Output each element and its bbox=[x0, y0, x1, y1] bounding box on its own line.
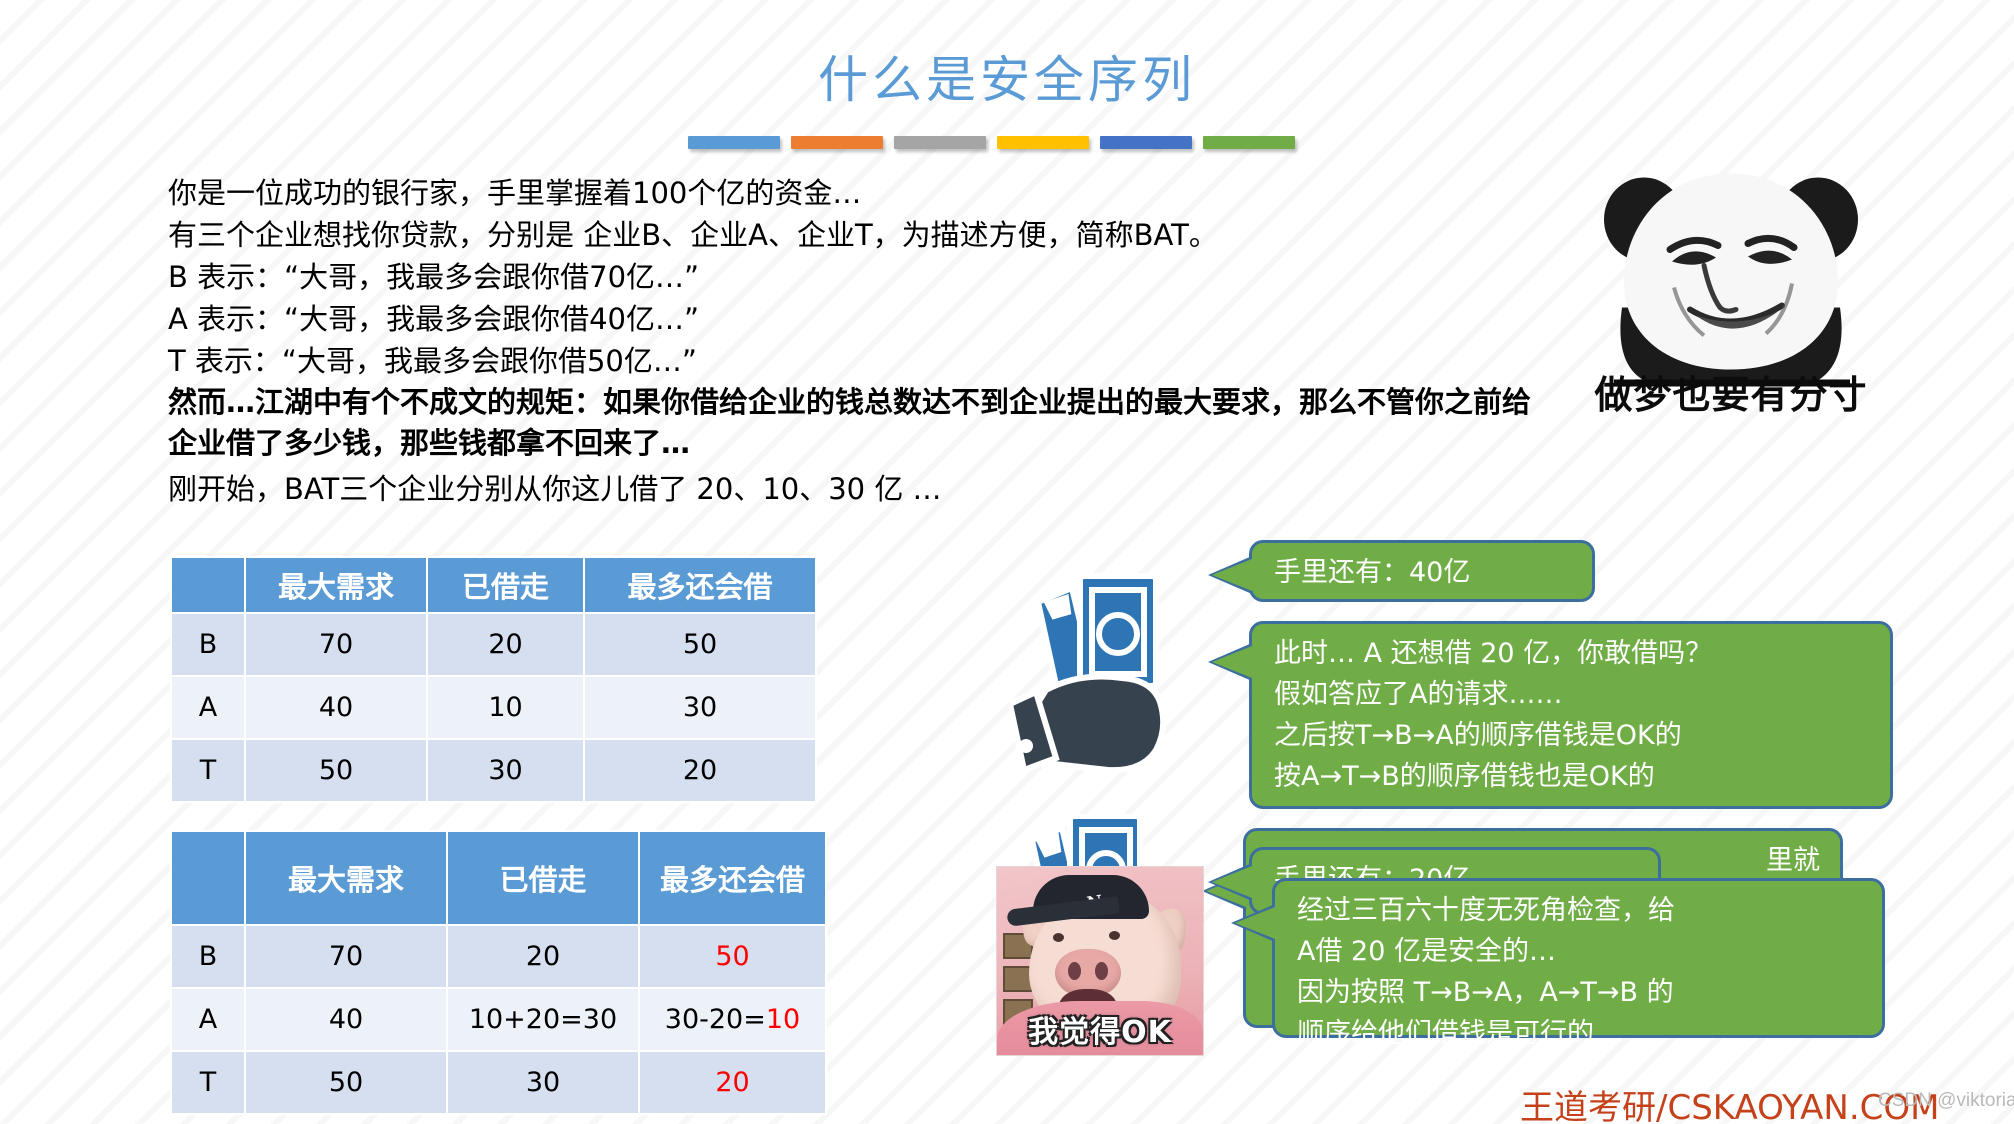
body-line-5: T 表示：“大哥，我最多会跟你借50亿…” bbox=[168, 340, 1558, 382]
pig-baseball-cap: N bbox=[1033, 875, 1149, 919]
body-line-3: B 表示：“大哥，我最多会跟你借70亿…” bbox=[168, 256, 1558, 298]
title-bar-1 bbox=[688, 136, 780, 149]
bubble1-text: 手里还有：40亿 bbox=[1274, 552, 1572, 593]
table2-r1-remain-prefix: 30-20= bbox=[665, 1004, 766, 1035]
title-underline-bars bbox=[688, 136, 1295, 149]
table1-header-already-borrowed: 已借走 bbox=[427, 557, 584, 613]
table1-header-remaining-need: 最多还会借 bbox=[584, 557, 816, 613]
table2-header-already-borrowed: 已借走 bbox=[447, 831, 639, 925]
bubble-tail-2 bbox=[1212, 646, 1252, 678]
callout-bubble-request: 此时… A 还想借 20 亿，你敢借吗？ 假如答应了A的请求…… 之后按T→B→… bbox=[1249, 621, 1893, 809]
table-row: B 70 20 50 bbox=[171, 925, 826, 988]
callout-bubble-cash-40: 手里还有：40亿 bbox=[1249, 540, 1595, 602]
table-row: T 50 30 20 bbox=[171, 739, 816, 802]
table2-r1-max: 40 bbox=[245, 988, 447, 1051]
site-watermark: 王道考研/CSKAOYAN.COM bbox=[1520, 1080, 1940, 1124]
body-line-6: 然而…江湖中有个不成文的规矩：如果你借给企业的钱总数达不到企业提出的最大要求，那… bbox=[168, 382, 1558, 464]
panda-caption: 做梦也要有分寸 bbox=[1586, 364, 1876, 419]
bubble5-line-3: 因为按照 T→B→A，A→T→B 的 bbox=[1297, 972, 1862, 1013]
table1-r2-remain: 20 bbox=[584, 739, 816, 802]
table1-r0-remain: 50 bbox=[584, 613, 816, 676]
table1-r2-max: 50 bbox=[245, 739, 427, 802]
title-bar-3 bbox=[894, 136, 986, 149]
bubble-tail-5 bbox=[1235, 907, 1275, 939]
table2-r2-name: T bbox=[171, 1051, 245, 1114]
table2-r2-remain: 20 bbox=[639, 1051, 826, 1114]
table2-r1-name: A bbox=[171, 988, 245, 1051]
table1-header-0 bbox=[171, 557, 245, 613]
body-line-2: 有三个企业想找你贷款，分别是 企业B、企业A、企业T，为描述方便，简称BAT。 bbox=[168, 214, 1558, 256]
slide-canvas: 什么是安全序列 你是一位成功的银行家，手里掌握着100个亿的资金… 有三个企业想… bbox=[0, 0, 2014, 1124]
allocation-table-initial: 最大需求 已借走 最多还会借 B 70 20 50 A 40 10 30 T 5… bbox=[170, 556, 817, 803]
table1-r1-taken: 10 bbox=[427, 676, 584, 739]
table1-r1-remain: 30 bbox=[584, 676, 816, 739]
bubble2-line-4: 按A→T→B的顺序借钱也是OK的 bbox=[1274, 756, 1870, 797]
table2-r2-remain-value: 20 bbox=[715, 1067, 749, 1098]
bubble2-line-1: 此时… A 还想借 20 亿，你敢借吗？ bbox=[1274, 633, 1870, 674]
body-text-block: 你是一位成功的银行家，手里掌握着100个亿的资金… 有三个企业想找你贷款，分别是… bbox=[168, 172, 1558, 510]
table2-header-max-demand: 最大需求 bbox=[245, 831, 447, 925]
table-row: A 40 10 30 bbox=[171, 676, 816, 739]
title-bar-4 bbox=[997, 136, 1089, 149]
panda-meme-image: 做梦也要有分寸 bbox=[1586, 140, 1876, 415]
table2-r2-max: 50 bbox=[245, 1051, 447, 1114]
allocation-table-after-request: 最大需求 已借走 最多还会借 B 70 20 50 A 40 10+20=30 … bbox=[170, 830, 827, 1115]
table2-r1-taken: 10+20=30 bbox=[447, 988, 639, 1051]
table-row: T 50 30 20 bbox=[171, 1051, 826, 1114]
table2-r0-remain: 50 bbox=[639, 925, 826, 988]
table-header-row: 最大需求 已借走 最多还会借 bbox=[171, 557, 816, 613]
title-bar-2 bbox=[791, 136, 883, 149]
table1-r0-name: B bbox=[171, 613, 245, 676]
body-line-1: 你是一位成功的银行家，手里掌握着100个亿的资金… bbox=[168, 172, 1558, 214]
body-line-4: A 表示：“大哥，我最多会跟你借40亿…” bbox=[168, 298, 1558, 340]
table1-r2-name: T bbox=[171, 739, 245, 802]
bubble-tail-1 bbox=[1212, 559, 1252, 591]
title-bar-6 bbox=[1203, 136, 1295, 149]
table-header-row: 最大需求 已借走 最多还会借 bbox=[171, 831, 826, 925]
table2-r0-name: B bbox=[171, 925, 245, 988]
callout-bubble-safe-conclusion: 经过三百六十度无死角检查，给 A借 20 亿是安全的… 因为按照 T→B→A，A… bbox=[1272, 878, 1885, 1038]
bubble2-line-2: 假如答应了A的请求…… bbox=[1274, 674, 1870, 715]
table2-r0-remain-value: 50 bbox=[715, 941, 749, 972]
table2-r2-taken: 30 bbox=[447, 1051, 639, 1114]
table2-header-0 bbox=[171, 831, 245, 925]
bubble5-line-1: 经过三百六十度无死角检查，给 bbox=[1297, 890, 1862, 931]
table1-r0-taken: 20 bbox=[427, 613, 584, 676]
table1-header-max-demand: 最大需求 bbox=[245, 557, 427, 613]
table2-r1-remain: 30-20=10 bbox=[639, 988, 826, 1051]
table1-r2-taken: 30 bbox=[427, 739, 584, 802]
money-in-hand-glyph bbox=[1010, 568, 1210, 778]
pig-eye-right bbox=[1109, 931, 1120, 940]
bubble2-line-3: 之后按T→B→A的顺序借钱是OK的 bbox=[1274, 715, 1870, 756]
bubble-tail-4 bbox=[1212, 866, 1252, 898]
table-row: A 40 10+20=30 30-20=10 bbox=[171, 988, 826, 1051]
csdn-watermark: CSDN @viktoriae bbox=[1878, 1090, 2014, 1112]
table1-r1-name: A bbox=[171, 676, 245, 739]
title-bar-5 bbox=[1100, 136, 1192, 149]
page-title: 什么是安全序列 bbox=[0, 40, 2014, 112]
bubble5-line-4: 顺序给他们借钱是可行的… bbox=[1297, 1013, 1862, 1054]
pig-caption: 我觉得OK bbox=[997, 1007, 1203, 1051]
body-line-7: 刚开始，BAT三个企业分别从你这儿借了 20、10、30 亿 … bbox=[168, 468, 1558, 510]
table1-r0-max: 70 bbox=[245, 613, 427, 676]
hand-holding-money-icon bbox=[1010, 568, 1210, 778]
table2-r0-max: 70 bbox=[245, 925, 447, 988]
bubble5-line-2: A借 20 亿是安全的… bbox=[1297, 931, 1862, 972]
table2-r0-taken: 20 bbox=[447, 925, 639, 988]
table-row: B 70 20 50 bbox=[171, 613, 816, 676]
cap-letter: N bbox=[1086, 892, 1104, 914]
pig-eye-left bbox=[1053, 933, 1064, 942]
table1-r1-max: 40 bbox=[245, 676, 427, 739]
pig-meme-image: N 我觉得OK bbox=[996, 866, 1204, 1056]
table2-header-remaining-need: 最多还会借 bbox=[639, 831, 826, 925]
table2-r1-remain-value: 10 bbox=[766, 1004, 800, 1035]
